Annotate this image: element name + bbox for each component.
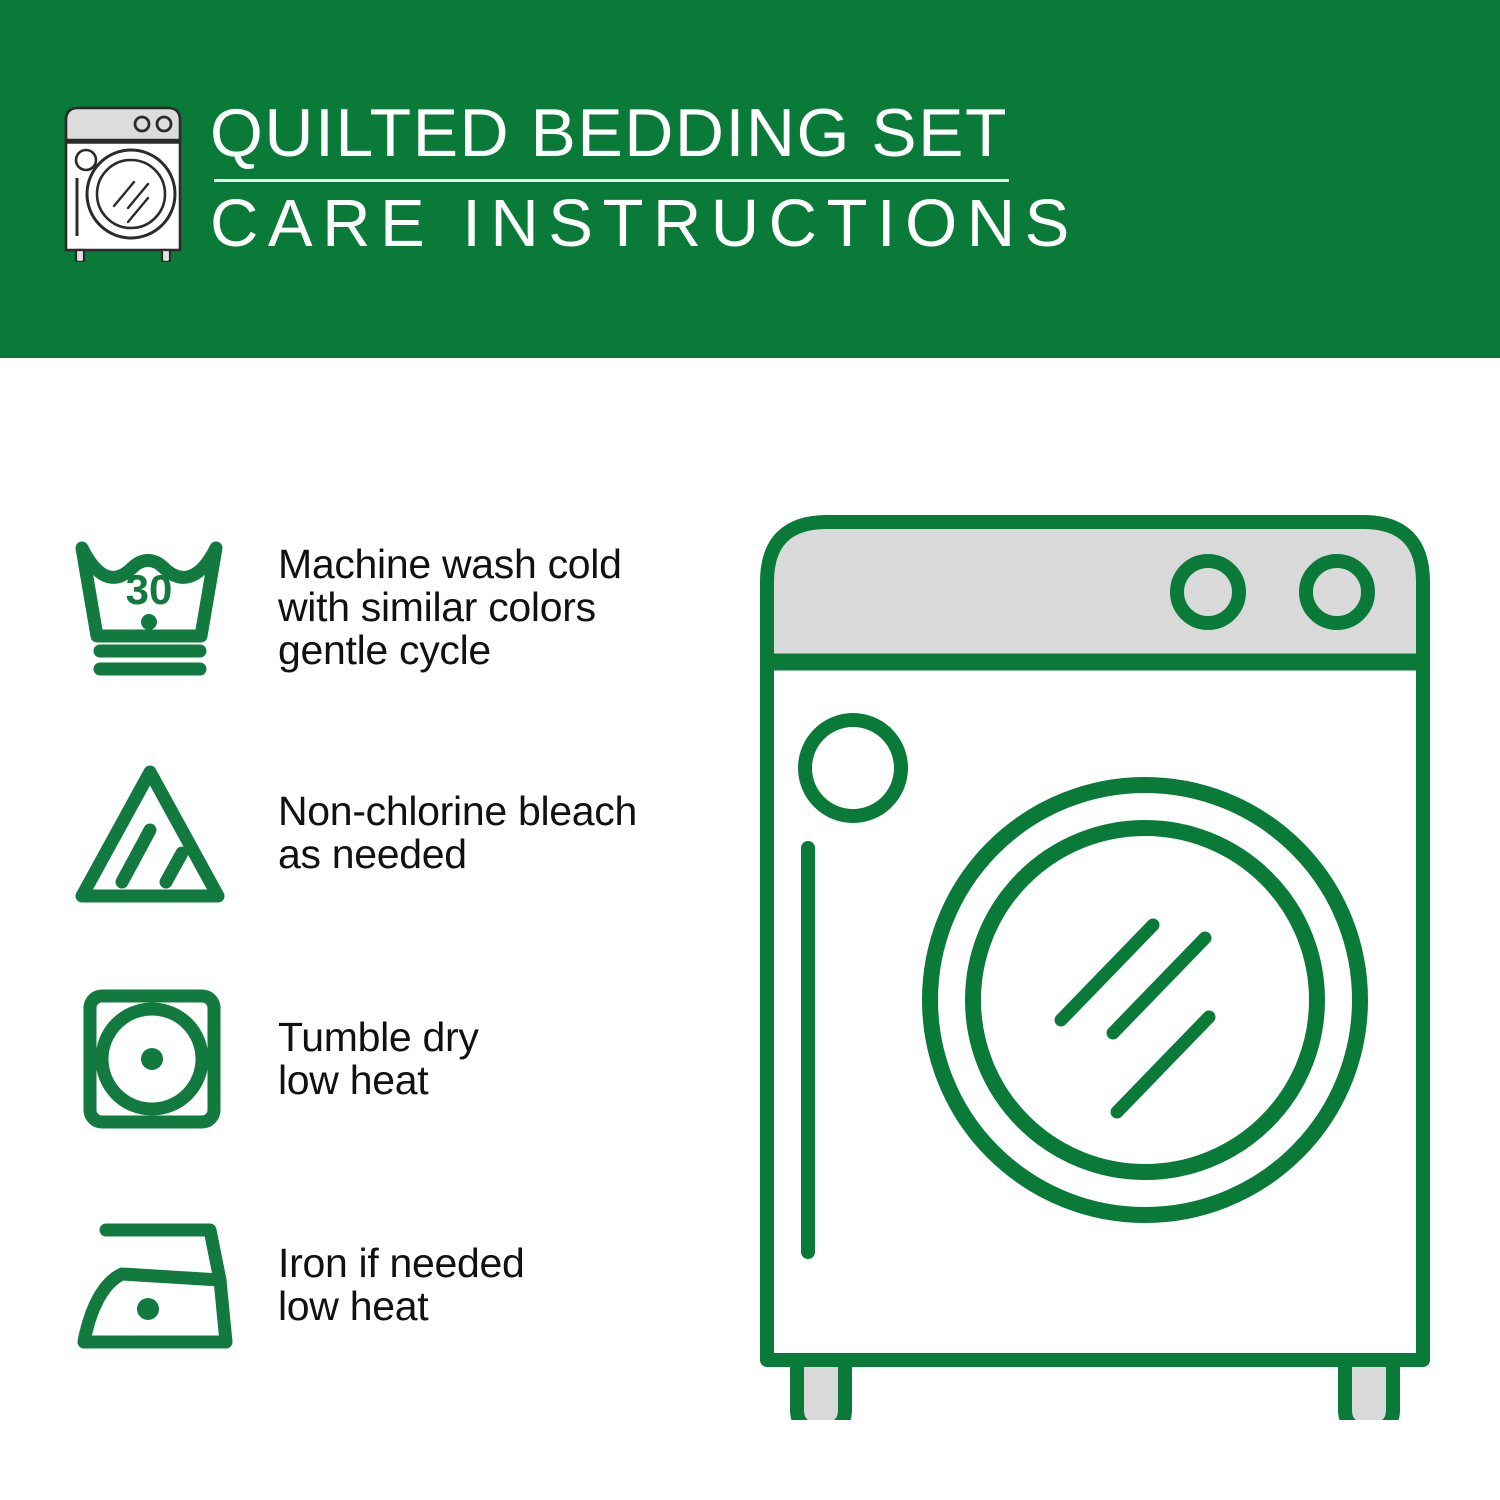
care-instruction-list: 30 Machine wash cold with similar colors…	[70, 512, 720, 1416]
door-stripes	[1061, 925, 1209, 1112]
care-label-iron: Iron if needed low heat	[278, 1242, 720, 1328]
wash-temperature-value: 30	[126, 566, 173, 613]
dispenser-circle	[805, 720, 901, 816]
leg-left	[797, 1360, 845, 1420]
header-content: QUILTED BEDDING SET CARE INSTRUCTIONS	[58, 96, 1038, 276]
washing-machine-illustration	[745, 500, 1445, 1420]
iron-icon	[70, 1205, 250, 1365]
care-label-machine-wash: Machine wash cold with similar colors ge…	[278, 543, 720, 672]
title-divider	[214, 179, 1009, 182]
care-row-machine-wash: 30 Machine wash cold with similar colors…	[70, 512, 720, 702]
care-label-tumble-dry: Tumble dry low heat	[278, 1016, 720, 1102]
tumble-dry-icon	[70, 979, 250, 1139]
wash-tub-30-icon: 30	[70, 527, 250, 687]
page-title: QUILTED BEDDING SET	[210, 96, 1079, 170]
leg-right	[1345, 1360, 1393, 1420]
bleach-triangle-icon	[70, 753, 250, 913]
care-row-iron: Iron if needed low heat	[70, 1190, 720, 1380]
header-band: QUILTED BEDDING SET CARE INSTRUCTIONS	[0, 0, 1500, 358]
care-row-tumble-dry: Tumble dry low heat	[70, 964, 720, 1154]
control-panel-fill	[767, 522, 1423, 662]
page-subtitle: CARE INSTRUCTIONS	[210, 186, 1079, 262]
washing-machine-icon	[58, 102, 188, 262]
care-row-bleach: Non-chlorine bleach as needed	[70, 738, 720, 928]
header-text-block: QUILTED BEDDING SET CARE INSTRUCTIONS	[210, 96, 1079, 262]
care-label-bleach: Non-chlorine bleach as needed	[278, 790, 720, 876]
